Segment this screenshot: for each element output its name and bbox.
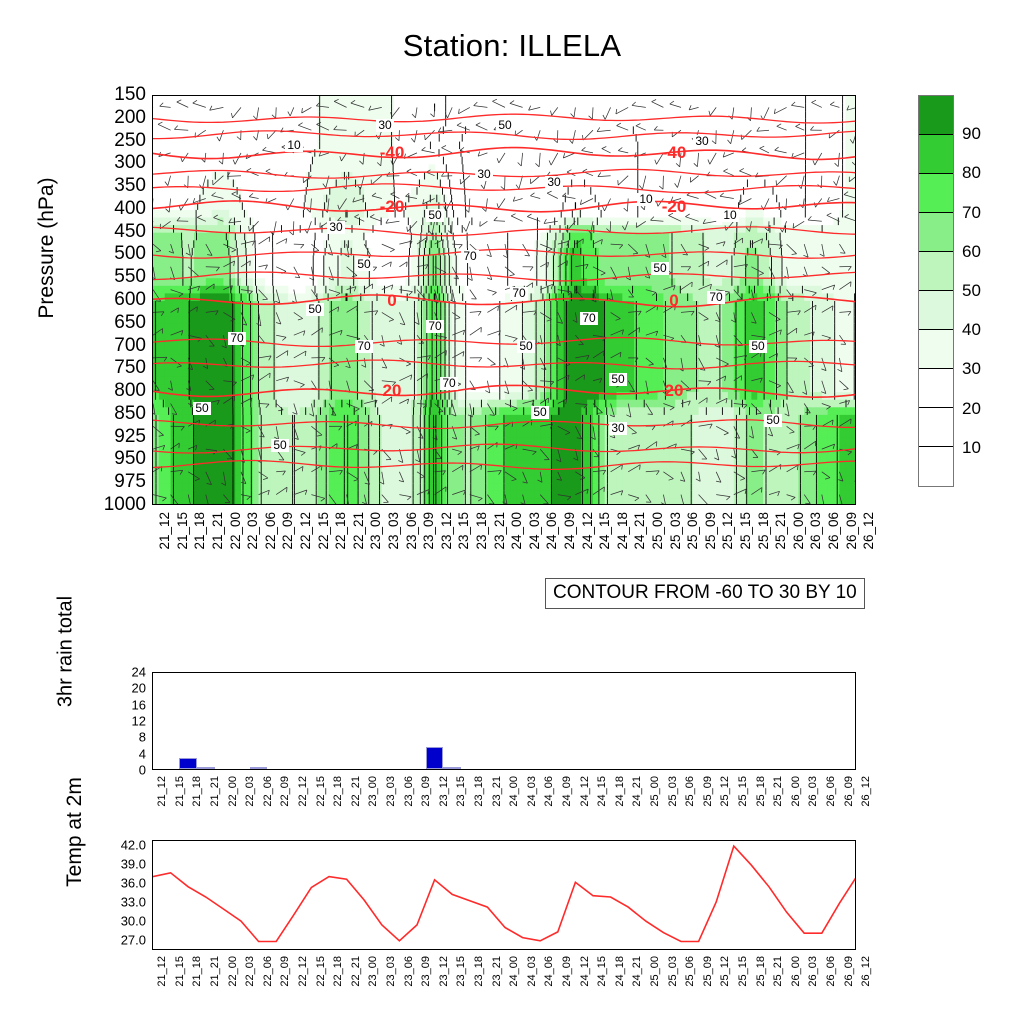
rain-bar [197, 767, 215, 769]
pressure-axis-ticks: 1502002503003504004505005506006507007508… [68, 95, 146, 505]
rain-tick: 16 [98, 697, 146, 712]
time-tick: 26_03 [807, 776, 819, 807]
time-tick: 24_06 [543, 956, 555, 987]
time-tick: 24_15 [597, 512, 612, 550]
time-axis-main: 21_1221_1521_1821_2122_0022_0322_0622_09… [152, 512, 856, 582]
temp-tick: 33.0 [88, 895, 146, 910]
time-tick: 24_18 [614, 956, 626, 987]
pressure-tick: 700 [76, 335, 146, 357]
time-tick: 25_12 [720, 512, 735, 550]
time-tick: 26_09 [843, 776, 855, 807]
time-tick: 25_06 [684, 956, 696, 987]
time-tick: 22_21 [351, 512, 366, 550]
time-tick: 25_09 [703, 512, 718, 550]
time-tick: 22_06 [262, 956, 274, 987]
pressure-tick: 650 [76, 312, 146, 334]
time-tick: 23_09 [420, 776, 432, 807]
colorbar-tick: 30 [962, 359, 981, 379]
time-tick: 23_03 [385, 956, 397, 987]
time-tick: 24_12 [579, 956, 591, 987]
colorbar-tick: 70 [962, 203, 981, 223]
pressure-tick: 450 [76, 221, 146, 243]
pressure-tick: 750 [76, 357, 146, 379]
temp-tick: 42.0 [88, 838, 146, 853]
time-tick: 22_06 [262, 776, 274, 807]
time-tick: 25_21 [772, 776, 784, 807]
time-tick: 23_18 [474, 512, 489, 550]
temp-tick: 39.0 [88, 857, 146, 872]
time-tick: 23_00 [368, 512, 383, 550]
time-tick: 23_06 [403, 956, 415, 987]
time-axis-rain: 21_1221_1521_1821_2122_0022_0322_0622_09… [152, 776, 856, 846]
time-tick: 25_12 [719, 776, 731, 807]
pressure-tick: 300 [76, 152, 146, 174]
time-tick: 23_21 [491, 776, 503, 807]
temp-tick: 36.0 [88, 876, 146, 891]
time-tick: 25_15 [737, 776, 749, 807]
time-tick: 23_21 [492, 512, 507, 550]
time-tick: 25_21 [772, 956, 784, 987]
time-tick: 21_15 [174, 956, 186, 987]
time-tick: 22_15 [316, 512, 331, 550]
colorbar-tick: 80 [962, 163, 981, 183]
time-tick: 23_15 [455, 776, 467, 807]
pressure-tick: 800 [76, 380, 146, 402]
time-tick: 25_12 [719, 956, 731, 987]
rain-bar [426, 747, 444, 769]
cross-section-plot: -40-40-20-200020205070507050707070507050… [153, 96, 856, 505]
time-tick: 22_12 [297, 956, 309, 987]
time-tick: 25_18 [755, 956, 767, 987]
time-tick: 23_18 [473, 956, 485, 987]
time-tick: 23_06 [403, 776, 415, 807]
time-tick: 22_09 [279, 776, 291, 807]
rain-bar [250, 767, 268, 769]
colorbar-tick: 50 [962, 281, 981, 301]
colorbar-labels: 908070605040302010 [918, 95, 1024, 487]
time-tick: 24_09 [561, 776, 573, 807]
time-tick: 23_00 [367, 776, 379, 807]
temp-tick: 30.0 [88, 914, 146, 929]
time-tick: 22_15 [315, 956, 327, 987]
time-tick: 24_06 [544, 512, 559, 550]
pressure-tick: 250 [76, 130, 146, 152]
time-tick: 25_09 [702, 956, 714, 987]
time-tick: 26_12 [861, 512, 876, 550]
time-tick: 22_00 [227, 956, 239, 987]
time-tick: 23_00 [367, 956, 379, 987]
time-tick: 24_18 [614, 776, 626, 807]
pressure-tick: 500 [76, 243, 146, 265]
temp-axis-ticks: 27.030.033.036.039.042.0 [86, 840, 146, 950]
time-tick: 21_15 [175, 512, 190, 550]
time-tick: 24_03 [526, 956, 538, 987]
time-tick: 23_06 [404, 512, 419, 550]
time-tick: 23_12 [439, 512, 454, 550]
pressure-tick: 925 [76, 426, 146, 448]
time-tick: 21_18 [191, 956, 203, 987]
time-tick: 21_12 [156, 776, 168, 807]
time-tick: 24_00 [508, 956, 520, 987]
rain-bar-chart[interactable] [152, 672, 856, 770]
pressure-axis-label: Pressure (hPa) [35, 83, 59, 413]
time-tick: 22_09 [280, 512, 295, 550]
time-tick: 25_21 [773, 512, 788, 550]
time-tick: 22_00 [228, 512, 243, 550]
time-tick: 23_03 [386, 512, 401, 550]
time-tick: 25_03 [667, 956, 679, 987]
time-tick: 21_18 [192, 512, 207, 550]
time-tick: 22_00 [227, 776, 239, 807]
time-tick: 26_00 [790, 956, 802, 987]
time-tick: 23_09 [421, 512, 436, 550]
pressure-tick: 550 [76, 266, 146, 288]
time-height-cross-section[interactable]: -40-40-20-200020205070507050707070507050… [152, 95, 856, 505]
pressure-tick: 400 [76, 198, 146, 220]
time-tick: 22_03 [245, 512, 260, 550]
time-tick: 21_21 [209, 776, 221, 807]
time-tick: 22_06 [263, 512, 278, 550]
time-tick: 23_09 [420, 956, 432, 987]
pressure-tick: 975 [76, 471, 146, 493]
time-tick: 23_03 [385, 776, 397, 807]
pressure-tick: 200 [76, 107, 146, 129]
temperature-line [153, 846, 856, 941]
pressure-tick: 350 [76, 175, 146, 197]
temp-tick: 27.0 [88, 933, 146, 948]
rain-tick: 24 [98, 665, 146, 680]
time-tick: 26_03 [808, 512, 823, 550]
rain-tick: 12 [98, 714, 146, 729]
rain-bar [443, 767, 461, 769]
time-tick: 24_03 [527, 512, 542, 550]
temperature-line-chart[interactable] [152, 840, 856, 950]
time-tick: 26_00 [791, 512, 806, 550]
time-axis-temp: 21_1221_1521_1821_2122_0022_0322_0622_09… [152, 956, 856, 1026]
rain-tick: 0 [98, 763, 146, 778]
time-tick: 21_21 [210, 512, 225, 550]
time-tick: 24_12 [579, 776, 591, 807]
page-title: Station: ILLELA [0, 28, 1024, 64]
time-tick: 25_15 [737, 956, 749, 987]
time-tick: 24_21 [631, 776, 643, 807]
time-tick: 24_12 [580, 512, 595, 550]
rain-tick: 20 [98, 681, 146, 696]
time-tick: 21_21 [209, 956, 221, 987]
time-tick: 26_06 [825, 776, 837, 807]
pressure-tick: 600 [76, 289, 146, 311]
time-tick: 24_21 [631, 956, 643, 987]
time-tick: 24_06 [543, 776, 555, 807]
time-tick: 22_15 [315, 776, 327, 807]
time-tick: 23_12 [438, 956, 450, 987]
time-tick: 24_03 [526, 776, 538, 807]
time-tick: 25_15 [738, 512, 753, 550]
time-tick: 25_06 [685, 512, 700, 550]
rain-bar [179, 758, 197, 769]
time-tick: 23_18 [473, 776, 485, 807]
temperature-plot [153, 841, 856, 950]
rain-tick: 4 [98, 746, 146, 761]
colorbar-tick: 10 [962, 438, 981, 458]
time-tick: 26_03 [807, 956, 819, 987]
time-tick: 26_00 [790, 776, 802, 807]
time-tick: 24_00 [509, 512, 524, 550]
time-tick: 25_00 [649, 776, 661, 807]
time-tick: 24_18 [615, 512, 630, 550]
time-tick: 22_21 [350, 956, 362, 987]
time-tick: 25_00 [650, 512, 665, 550]
rain-axis-ticks: 04812162024 [96, 672, 146, 770]
time-tick: 22_03 [244, 956, 256, 987]
time-tick: 22_18 [332, 776, 344, 807]
pressure-tick: 850 [76, 403, 146, 425]
time-tick: 24_15 [596, 776, 608, 807]
time-tick: 26_06 [826, 512, 841, 550]
time-tick: 26_12 [860, 956, 872, 987]
pressure-tick: 950 [76, 448, 146, 470]
time-tick: 26_09 [844, 512, 859, 550]
time-tick: 23_12 [438, 776, 450, 807]
time-tick: 24_15 [596, 956, 608, 987]
time-tick: 23_21 [491, 956, 503, 987]
pressure-tick: 150 [76, 84, 146, 106]
contour-note: CONTOUR FROM -60 TO 30 BY 10 [545, 578, 865, 609]
time-tick: 21_15 [174, 776, 186, 807]
time-tick: 21_12 [156, 956, 168, 987]
time-tick: 22_03 [244, 776, 256, 807]
time-tick: 24_00 [508, 776, 520, 807]
time-tick: 22_18 [333, 512, 348, 550]
time-tick: 25_03 [667, 776, 679, 807]
time-tick: 25_18 [756, 512, 771, 550]
time-tick: 25_03 [668, 512, 683, 550]
time-tick: 22_21 [350, 776, 362, 807]
time-tick: 26_12 [860, 776, 872, 807]
time-tick: 25_18 [755, 776, 767, 807]
colorbar-tick: 60 [962, 242, 981, 262]
colorbar-tick: 20 [962, 399, 981, 419]
time-tick: 21_18 [191, 776, 203, 807]
time-tick: 25_06 [684, 776, 696, 807]
time-tick: 26_09 [843, 956, 855, 987]
pressure-tick: 1000 [76, 494, 146, 516]
time-tick: 25_09 [702, 776, 714, 807]
rain-tick: 8 [98, 730, 146, 745]
colorbar-tick: 90 [962, 124, 981, 144]
time-tick: 25_00 [649, 956, 661, 987]
time-tick: 22_09 [279, 956, 291, 987]
time-tick: 22_18 [332, 956, 344, 987]
time-tick: 23_15 [455, 956, 467, 987]
time-tick: 22_12 [298, 512, 313, 550]
temp-axis-label: Temp at 2m [63, 707, 87, 957]
time-tick: 24_09 [561, 956, 573, 987]
colorbar-tick: 40 [962, 320, 981, 340]
time-tick: 26_06 [825, 956, 837, 987]
time-tick: 24_21 [632, 512, 647, 550]
time-tick: 24_09 [562, 512, 577, 550]
time-tick: 22_12 [297, 776, 309, 807]
time-tick: 23_15 [456, 512, 471, 550]
time-tick: 21_12 [157, 512, 172, 550]
